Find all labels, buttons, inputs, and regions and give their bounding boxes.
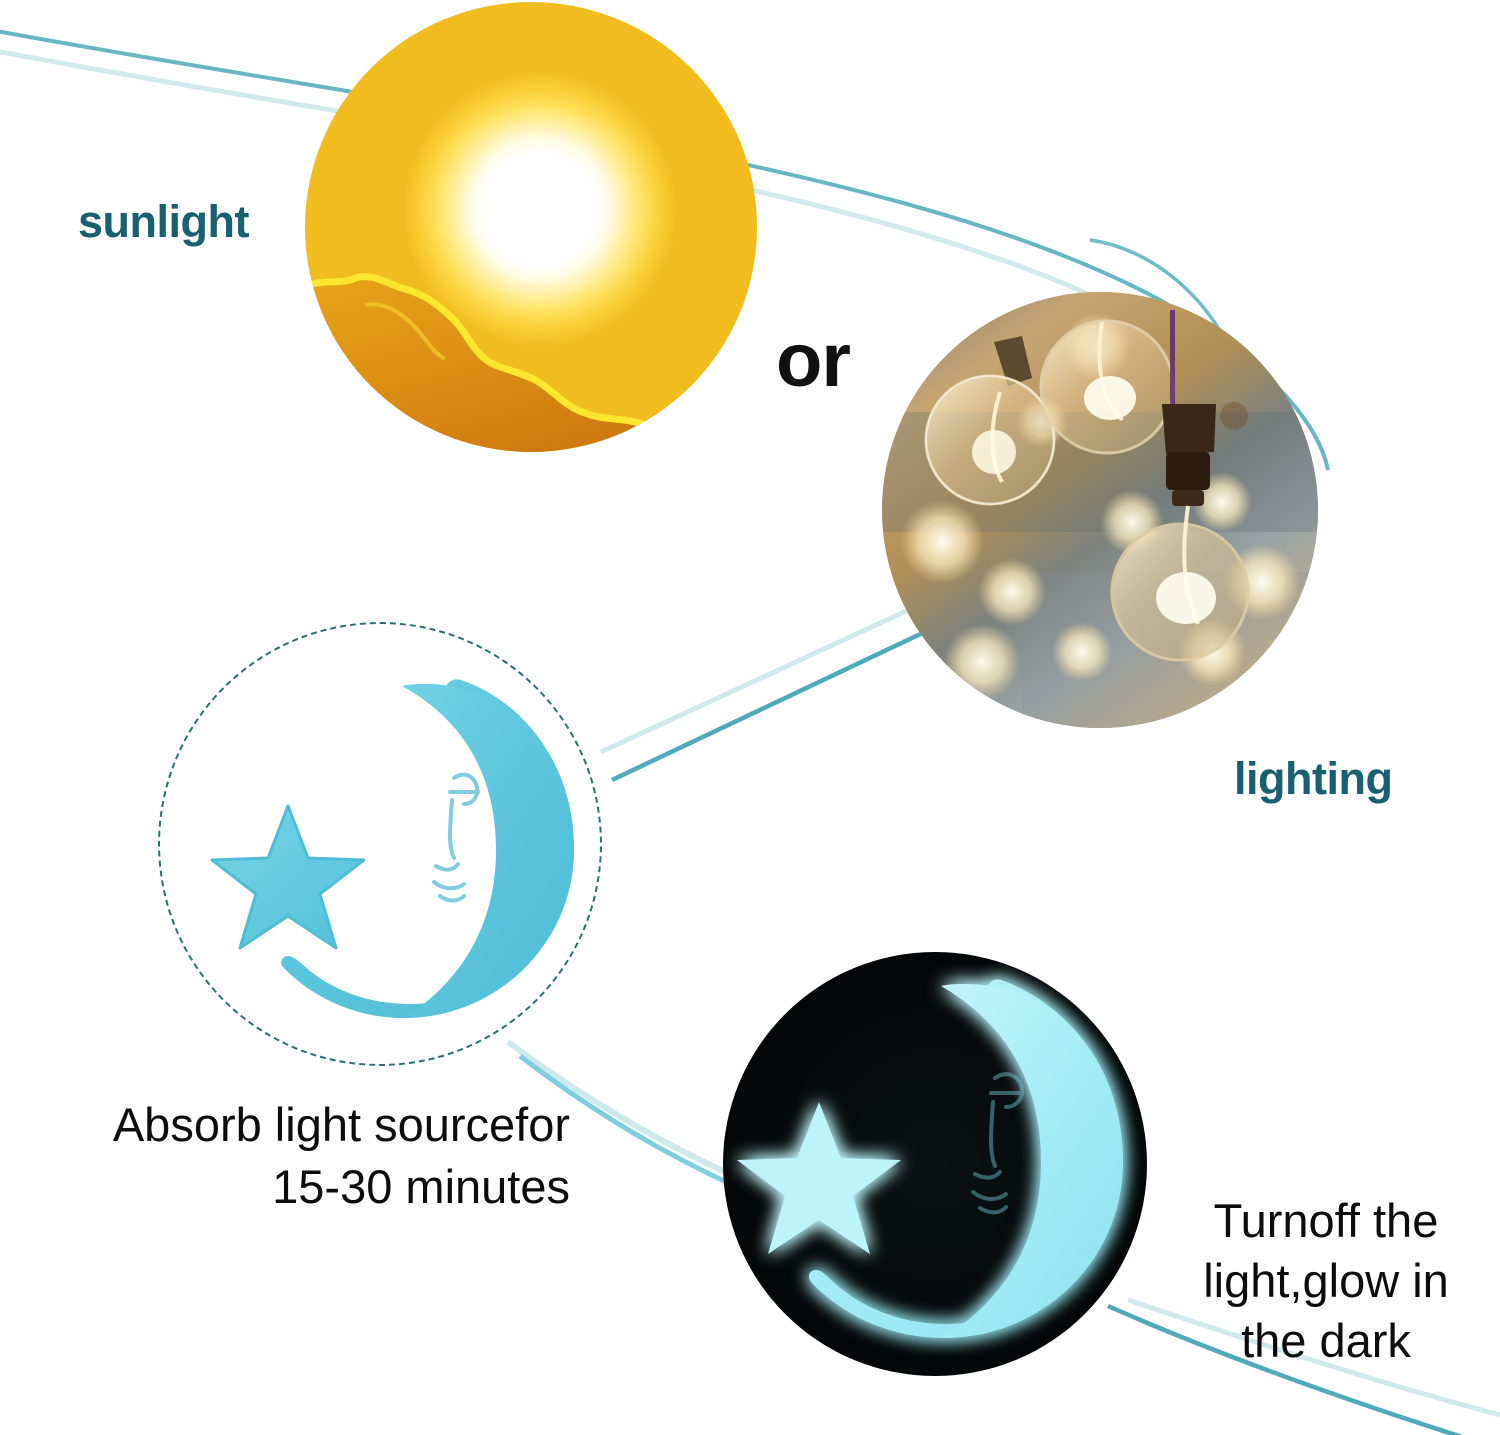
infographic-canvas: sunlight or lighting Absorb light source… xyxy=(0,0,1500,1435)
bulb-top-center xyxy=(1041,321,1173,453)
label-or-separator: or xyxy=(776,318,850,403)
label-absorb-instruction: Absorb light sourcefor 15-30 minutes xyxy=(40,1094,570,1218)
label-lighting: lighting xyxy=(1234,754,1392,804)
label-turnoff-instruction: Turnoff the light,glow in the dark xyxy=(1176,1191,1476,1371)
glowing-moon-star-icon xyxy=(723,952,1147,1376)
sun-icon xyxy=(305,2,757,452)
label-sunlight: sunlight xyxy=(78,197,249,247)
infographic-content: sunlight or lighting Absorb light source… xyxy=(0,0,1500,1435)
moon-star-icon xyxy=(196,650,596,1050)
glowing-moon-star-art xyxy=(723,952,1147,1376)
sun-clouds-icon xyxy=(305,245,757,452)
light-bulbs-art xyxy=(882,292,1318,728)
light-bulbs-icon xyxy=(882,292,1318,728)
